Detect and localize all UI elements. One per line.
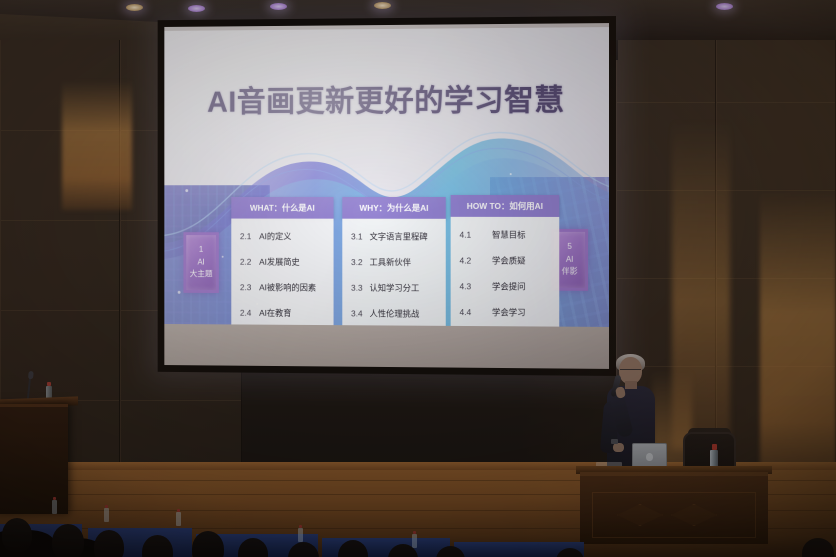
item-text: AI的定义: [259, 230, 333, 242]
audience-bottle: [298, 528, 303, 542]
slide-column-why: WHY：为什么是AI 3.1 文字语言里程碑 3.2 工具新伙伴 3.3 认知学: [342, 197, 445, 327]
item-text: AI被影响的因素: [259, 281, 333, 293]
list-item: 3.4 人性伦理挑战: [342, 301, 445, 327]
badge-right-line3: 伴影: [562, 266, 578, 278]
lectern: [0, 404, 68, 514]
list-item: 3.3 认知学习分工: [342, 275, 445, 301]
list-item: 2.4 AI在教育: [231, 300, 333, 326]
badge-left-line2: AI: [197, 256, 204, 268]
screen-blank-area: [164, 324, 609, 369]
badge-left-line3: 大主题: [190, 269, 213, 281]
presenter-neck: [625, 381, 637, 389]
item-number: 3.4: [351, 308, 369, 318]
item-text: 学会学习: [479, 306, 559, 318]
list-item: 4.1 智慧目标: [451, 222, 560, 248]
desk-front-panel: [592, 492, 756, 538]
item-text: AI在教育: [259, 307, 333, 319]
item-number: 4.4: [460, 307, 480, 317]
laptop-logo-icon: [646, 453, 653, 461]
presenter-desk: [580, 472, 768, 544]
item-text: 智慧目标: [479, 229, 559, 241]
column-header-howto: HOW TO：如何用AI: [451, 195, 560, 217]
item-number: 2.4: [240, 308, 259, 318]
item-number: 2.2: [240, 257, 259, 267]
audience-member: [2, 518, 32, 552]
audience-bottle: [104, 508, 109, 522]
list-item: 4.3 学会提问: [451, 273, 560, 299]
list-item: 3.1 文字语言里程碑: [342, 224, 445, 250]
audience-bottle: [176, 512, 181, 526]
audience-member: [94, 530, 124, 557]
slide-badge-left: 1 AI 大主题: [183, 232, 218, 293]
item-text: 学会提问: [479, 280, 559, 292]
item-text: 人性伦理挑战: [370, 308, 446, 320]
projection-screen: AI音画更新更好的学习智慧: [158, 16, 616, 376]
list-item: 2.2 AI发展简史: [231, 249, 333, 275]
ceiling-downlight-icon: [126, 4, 143, 11]
audience-bottle: [52, 500, 57, 514]
slide-column-howto: HOW TO：如何用AI 4.1 智慧目标 4.2 学会质疑 4.3 学会提问: [451, 195, 560, 327]
list-item: 3.2 工具新伙伴: [342, 249, 445, 275]
item-text: 认知学习分工: [370, 282, 446, 294]
audience-member: [52, 524, 84, 557]
item-number: 3.3: [351, 283, 369, 293]
ceiling-downlight-icon: [270, 3, 287, 10]
column-header-what: WHAT：什么是AI: [231, 197, 333, 219]
lecture-hall-photo: AI音画更新更好的学习智慧: [0, 0, 836, 557]
presenter-hand-lower: [613, 443, 624, 452]
ceiling-downlight-icon: [374, 2, 391, 9]
list-item: 2.1 AI的定义: [231, 223, 333, 249]
desk-diamond-inlay: [671, 504, 717, 526]
desk-diamond-inlay: [617, 504, 663, 526]
item-number: 4.1: [460, 230, 480, 240]
column-body-howto: 4.1 智慧目标 4.2 学会质疑 4.3 学会提问 4.4: [451, 217, 560, 327]
item-text: 文字语言里程碑: [370, 231, 446, 243]
item-number: 3.1: [351, 232, 369, 242]
list-item: 2.3 AI被影响的因素: [231, 274, 333, 300]
item-number: 4.2: [460, 256, 480, 266]
badge-left-number: 1: [199, 244, 203, 256]
badge-right-line2: AI: [566, 254, 574, 266]
audience-bottle: [412, 534, 417, 548]
ceiling-downlight-icon: [716, 3, 733, 10]
badge-right-number: 5: [567, 241, 571, 253]
item-text: 学会质疑: [479, 255, 559, 267]
slide-column-what: WHAT：什么是AI 2.1 AI的定义 2.2 AI发展简史 2.3 AI被影: [231, 197, 333, 327]
column-body-what: 2.1 AI的定义 2.2 AI发展简史 2.3 AI被影响的因素 2.4: [231, 219, 333, 327]
wall-accent-light: [62, 80, 132, 210]
item-number: 2.1: [240, 231, 259, 241]
column-header-why: WHY：为什么是AI: [342, 197, 445, 219]
column-body-why: 3.1 文字语言里程碑 3.2 工具新伙伴 3.3 认知学习分工 3.4: [342, 219, 445, 327]
list-item: 4.4 学会学习: [451, 299, 560, 325]
screen-surface: AI音画更新更好的学习智慧: [164, 23, 609, 369]
slide-title: AI音画更新更好的学习智慧: [164, 75, 609, 121]
ceiling-downlight-icon: [188, 5, 205, 12]
wall-accent-light: [760, 190, 836, 500]
presentation-slide: AI音画更新更好的学习智慧: [164, 27, 609, 327]
presentation-clicker: [611, 439, 618, 444]
glasses-icon: [620, 369, 641, 373]
item-number: 3.2: [351, 257, 369, 267]
item-number: 2.3: [240, 282, 259, 292]
list-item: 4.2 学会质疑: [451, 248, 560, 274]
item-number: 4.3: [460, 281, 480, 291]
item-text: AI发展简史: [259, 256, 333, 268]
item-text: 工具新伙伴: [370, 256, 446, 268]
